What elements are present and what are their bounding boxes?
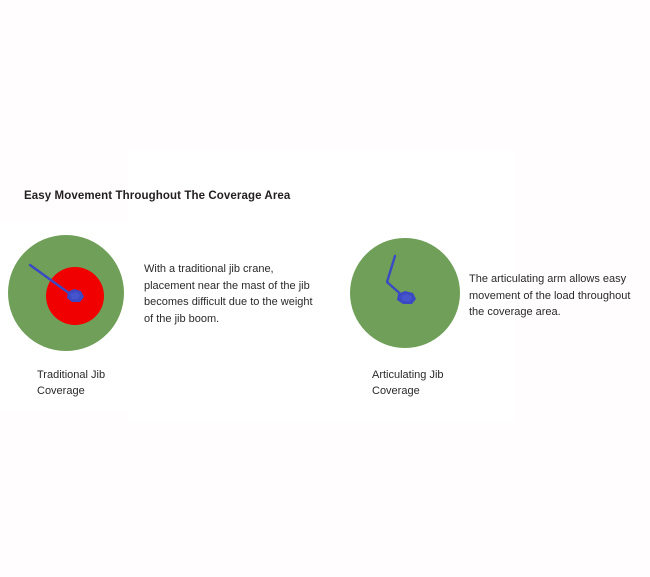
traditional-jib-diagram [8,234,128,354]
articulating-jib-caption: Articulating Jib Coverage [372,368,444,399]
articulating-jib-diagram [350,234,470,354]
illustration-canvas: Easy Movement Throughout The Coverage Ar… [0,0,650,577]
page-title: Easy Movement Throughout The Coverage Ar… [24,190,290,202]
traditional-jib-caption: Traditional Jib Coverage [37,368,105,399]
articulating-jib-description: The articulating arm allows easy movemen… [469,271,649,321]
traditional-jib-description: With a traditional jib crane, placement … [144,261,334,327]
